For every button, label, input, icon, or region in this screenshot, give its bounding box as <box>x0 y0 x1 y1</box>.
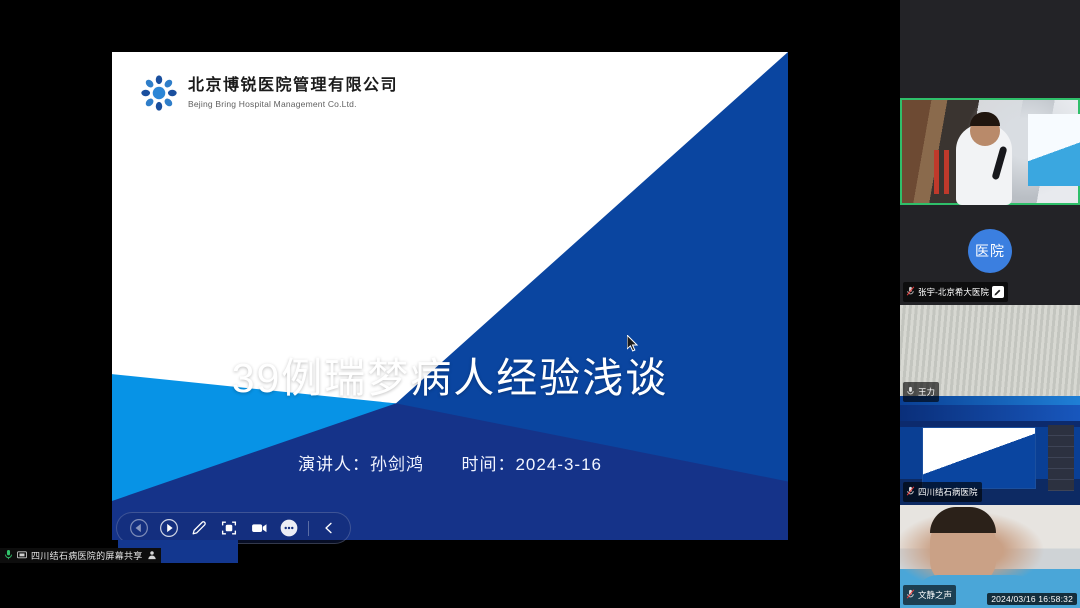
presentation-slide[interactable]: 北京博锐医院管理有限公司 Bejing Bring Hospital Manag… <box>112 52 788 540</box>
play-button[interactable] <box>158 518 179 539</box>
participant-tile[interactable]: 文静之声 2024/03/16 16:58:32 <box>900 505 1080 608</box>
logo-mark-icon <box>140 74 178 112</box>
microphone-muted-icon <box>906 283 915 301</box>
participant-tile[interactable]: 王力 <box>900 305 1080 405</box>
mini-slide-preview <box>922 427 1036 489</box>
slide-subtitle: 演讲人：孙剑鸿 时间：2024-3-16 <box>112 450 788 475</box>
collapse-toolbar-button[interactable] <box>318 518 339 539</box>
presenter-label: 演讲人：孙剑鸿 <box>298 455 424 474</box>
participant-name: 四川结石病医院 <box>918 486 978 498</box>
company-logo: 北京博锐医院管理有限公司 Bejing Bring Hospital Manag… <box>140 74 398 112</box>
microphone-muted-icon <box>906 586 915 604</box>
mini-filmstrip-preview <box>1048 425 1074 491</box>
microphone-muted-icon <box>906 483 915 501</box>
participant-filmstrip[interactable]: 医院 张宇-北京希大医院 王力 <box>900 0 1080 608</box>
participant-tile[interactable]: 四川结石病医院 <box>900 405 1080 505</box>
participant-tile[interactable]: 医院 张宇-北京希大医院 <box>900 205 1080 305</box>
participant-tile[interactable] <box>900 98 1080 205</box>
screen-share-label: 四川结石病医院的屏幕共享 <box>31 549 143 562</box>
avatar: 医院 <box>968 229 1012 273</box>
fullscreen-button[interactable] <box>218 518 239 539</box>
screen-share-icon <box>17 547 27 565</box>
participant-tile[interactable] <box>900 0 1080 98</box>
screen-share-highlight-upper <box>118 540 238 548</box>
participant-label: 四川结石病医院 <box>903 482 982 502</box>
annotate-button[interactable] <box>188 518 209 539</box>
screen-share-status-bar[interactable]: 四川结石病医院的屏幕共享 <box>0 548 161 563</box>
mini-header-bar <box>900 405 1080 421</box>
more-options-button[interactable] <box>278 518 299 539</box>
microphone-icon <box>4 547 13 565</box>
logo-company-name-cn: 北京博锐医院管理有限公司 <box>188 77 398 95</box>
pencil-icon[interactable] <box>992 286 1004 298</box>
person-share-icon[interactable] <box>147 547 157 565</box>
date-label: 时间：2024-3-16 <box>461 455 602 474</box>
logo-company-name-en: Bejing Bring Hospital Management Co.Ltd. <box>188 99 398 109</box>
shared-screen-stage: 北京博锐医院管理有限公司 Bejing Bring Hospital Manag… <box>0 0 900 608</box>
meeting-window: 北京博锐医院管理有限公司 Bejing Bring Hospital Manag… <box>0 0 1080 608</box>
video-camera-button[interactable] <box>248 518 269 539</box>
participant-label: 王力 <box>903 382 939 402</box>
toolbar-divider <box>308 521 309 536</box>
participant-label: 文静之声 <box>903 585 956 605</box>
participant-label: 张宇-北京希大医院 <box>903 282 1008 302</box>
participant-name: 张宇-北京希大医院 <box>918 286 989 298</box>
previous-slide-button[interactable] <box>128 518 149 539</box>
participant-name: 王力 <box>918 386 935 398</box>
participant-name: 文静之声 <box>918 589 952 601</box>
timestamp-badge: 2024/03/16 16:58:32 <box>987 593 1077 605</box>
microphone-muted-icon <box>906 383 915 401</box>
slide-title: 39例瑞梦病人经验浅谈 <box>112 344 788 404</box>
